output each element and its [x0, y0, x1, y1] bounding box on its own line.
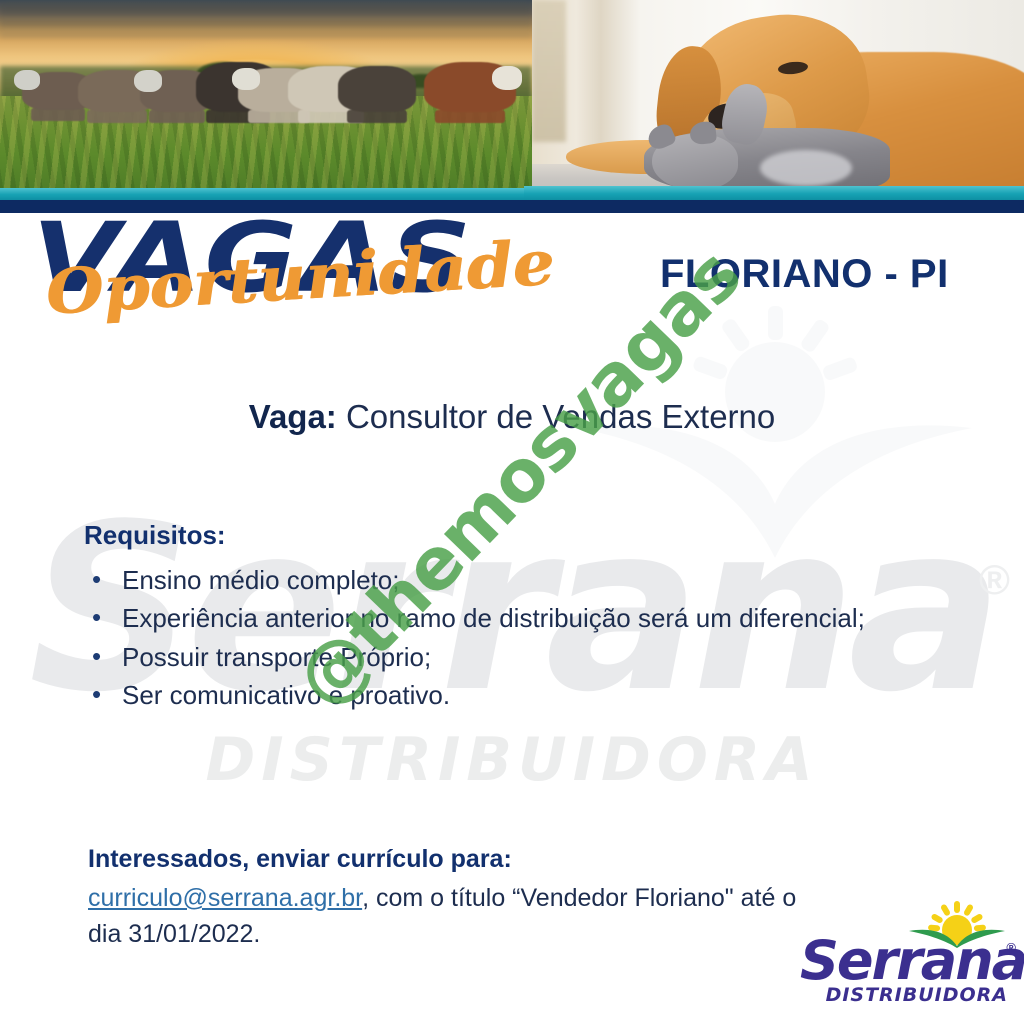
list-item: Possuir transporte Próprio;: [84, 638, 964, 676]
apply-instructions-line1: , com o título “Vendedor Floriano" até o: [362, 884, 796, 912]
cloud-band: [0, 4, 532, 15]
teal-divider-strip-right: [524, 186, 1024, 200]
cow-head: [492, 66, 522, 90]
distribuidora-watermark: DISTRIBUIDORA: [0, 725, 1024, 795]
list-item: Experiência anterior no ramo de distribu…: [84, 599, 964, 637]
apply-title: Interessados, enviar currículo para:: [88, 845, 918, 874]
list-item: Ser comunicativo e proativo.: [84, 676, 964, 714]
apply-body: curriculo@serrana.agr.br, com o título “…: [88, 881, 918, 952]
serrana-logo: Serrana ® DISTRIBUIDORA: [800, 900, 1014, 1006]
cloud-band: [0, 20, 532, 27]
cow-head: [232, 68, 260, 90]
logo-subtitle: DISTRIBUIDORA: [826, 984, 1008, 1006]
cow-head: [134, 70, 162, 92]
requirements-list: Ensino médio completo; Experiência anter…: [84, 561, 964, 715]
headline-block: VAGAS Oportunidade: [28, 208, 648, 318]
cow-head: [14, 70, 40, 90]
registered-mark-watermark: ®: [979, 556, 1010, 604]
role-line: Vaga: Consultor de Vendas Externo: [0, 398, 1024, 436]
list-item: Ensino médio completo;: [84, 561, 964, 599]
cow: [338, 66, 416, 112]
requirements-title: Requisitos:: [84, 520, 964, 551]
email-link[interactable]: curriculo@serrana.agr.br: [88, 884, 362, 912]
cloud-band: [0, 33, 532, 38]
dog-and-kitten-photo: [532, 0, 1024, 200]
kitten-belly: [760, 150, 852, 186]
job-vacancy-poster: Serrana ® DISTRIBUIDORA VAGAS Oportunida…: [0, 0, 1024, 1024]
requirements-block: Requisitos: Ensino médio completo; Exper…: [84, 520, 964, 715]
cattle-pasture-sunset-photo: [0, 0, 532, 200]
photo-banner: [0, 0, 1024, 200]
apply-block: Interessados, enviar currículo para: cur…: [88, 845, 918, 952]
logo-wordmark: Serrana: [800, 934, 1024, 988]
role-value: Consultor de Vendas Externo: [337, 398, 775, 435]
logo-registered-mark: ®: [1006, 940, 1016, 955]
apply-deadline: dia 31/01/2022.: [88, 917, 918, 953]
role-label: Vaga:: [249, 398, 337, 435]
city-label: FLORIANO - PI: [660, 252, 949, 297]
